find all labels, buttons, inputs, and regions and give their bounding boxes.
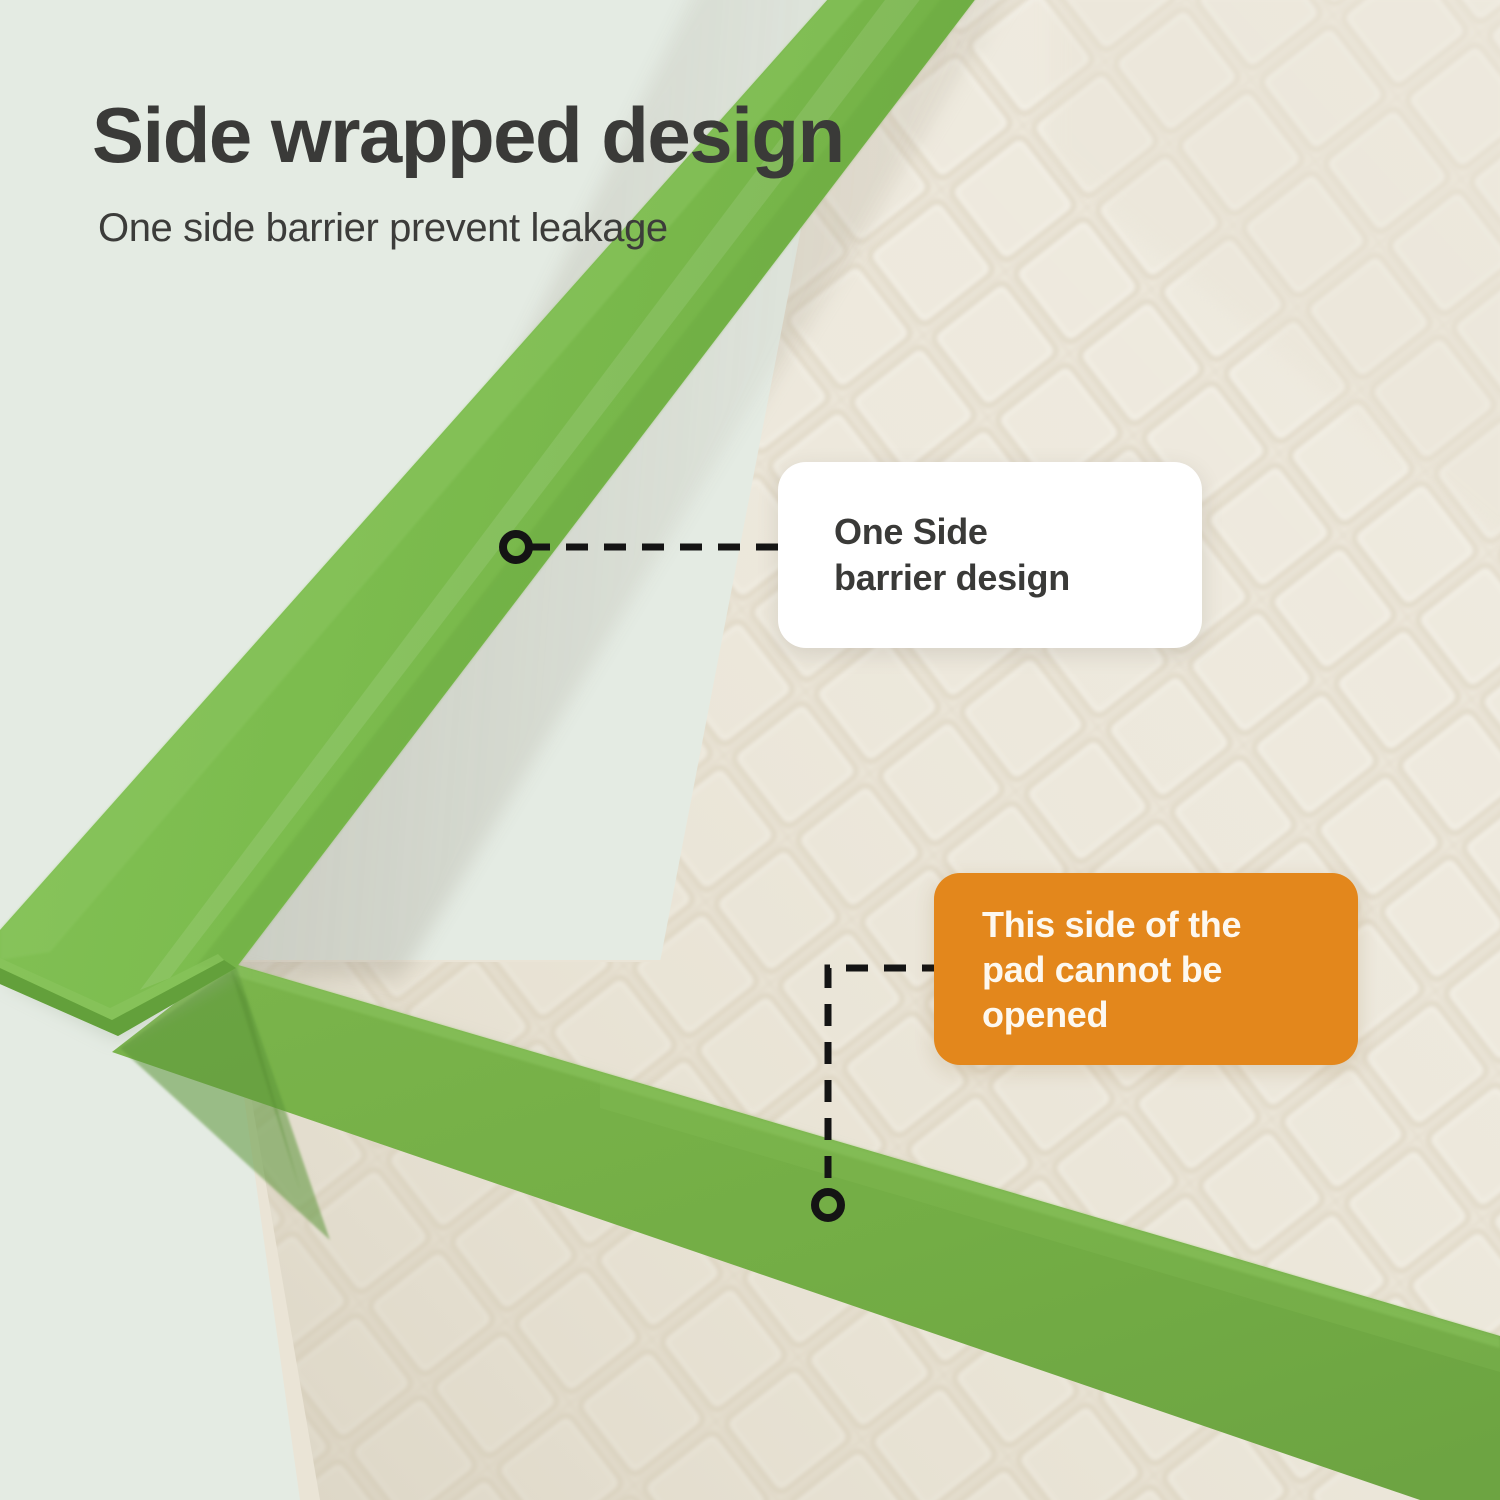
callout-one-side-barrier: One Side barrier design: [778, 462, 1202, 648]
callout-line: This side of the: [982, 902, 1241, 947]
product-photo: [0, 0, 1500, 1500]
callout-pad-cannot-be-opened: This side of the pad cannot be opened: [934, 873, 1358, 1065]
callout-line: opened: [982, 992, 1241, 1037]
callout-pad-cannot-be-opened-text: This side of the pad cannot be opened: [982, 902, 1241, 1037]
callout-line: One Side: [834, 509, 1070, 555]
callout-line: pad cannot be: [982, 947, 1241, 992]
callout-line: barrier design: [834, 555, 1070, 601]
callout-one-side-barrier-text: One Side barrier design: [834, 509, 1070, 601]
infographic-canvas: Side wrapped design One side barrier pre…: [0, 0, 1500, 1500]
